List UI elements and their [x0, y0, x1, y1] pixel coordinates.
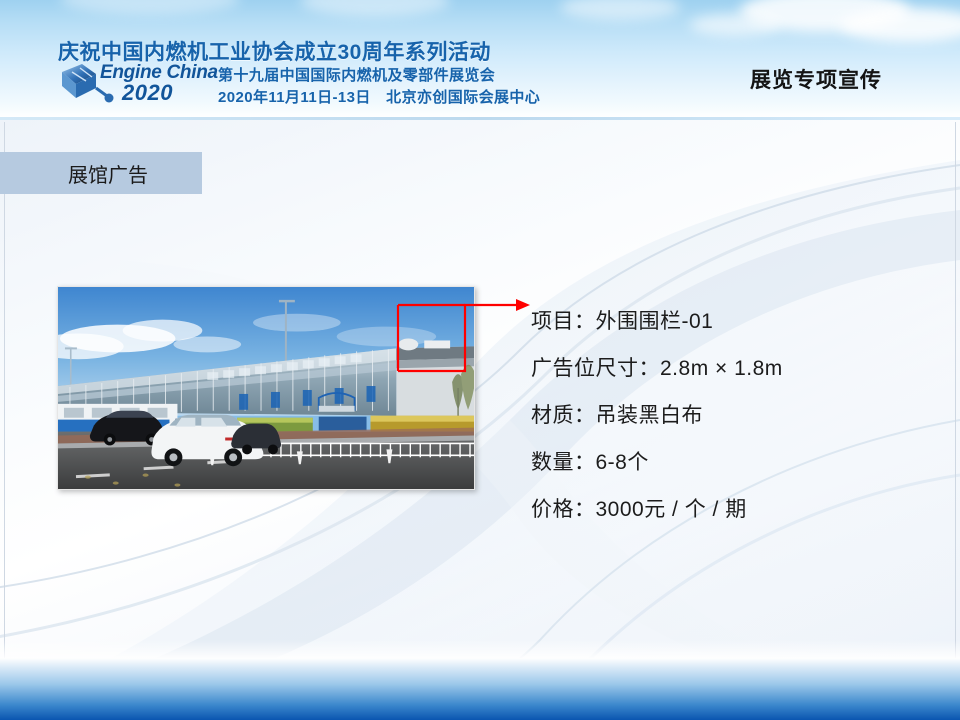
cloud-decoration — [840, 8, 960, 42]
cloud-decoration — [560, 0, 680, 20]
spec-item-price: 价格：3000元 / 个 / 期 — [531, 493, 931, 523]
cloud-decoration — [690, 14, 780, 36]
exhibition-date-venue: 2020年11月11日-13日 北京亦创国际会展中心 — [218, 86, 540, 107]
section-title-text: 展馆广告 — [68, 159, 148, 188]
cloud-decoration — [300, 0, 450, 16]
section-title-banner: 展馆广告 — [0, 152, 202, 194]
cloud-decoration — [60, 0, 240, 14]
header-right-label: 展览专项宣传 — [750, 64, 882, 94]
exhibition-name: 第十九届中国国际内燃机及零部件展览会 — [218, 64, 495, 85]
engine-china-logo: Engine China 2020 — [58, 62, 213, 107]
slide-footer — [0, 658, 960, 720]
slide-canvas: 庆祝中国内燃机工业协会成立30周年系列活动 Engine China 2020 … — [0, 0, 960, 720]
venue-photo-illustration — [58, 287, 474, 489]
header-divider — [0, 117, 960, 120]
spec-item-name: 项目：外围围栏-01 — [531, 305, 931, 335]
ad-spec-list: 项目：外围围栏-01 广告位尺寸：2.8m × 1.8m 材质：吊装黑白布 数量… — [531, 305, 931, 523]
logo-year-text: 2020 — [122, 80, 173, 106]
venue-photo — [57, 286, 475, 490]
spec-item-quantity: 数量：6-8个 — [531, 446, 931, 476]
spec-item-size: 广告位尺寸：2.8m × 1.8m — [531, 352, 931, 382]
spec-item-material: 材质：吊装黑白布 — [531, 399, 931, 429]
